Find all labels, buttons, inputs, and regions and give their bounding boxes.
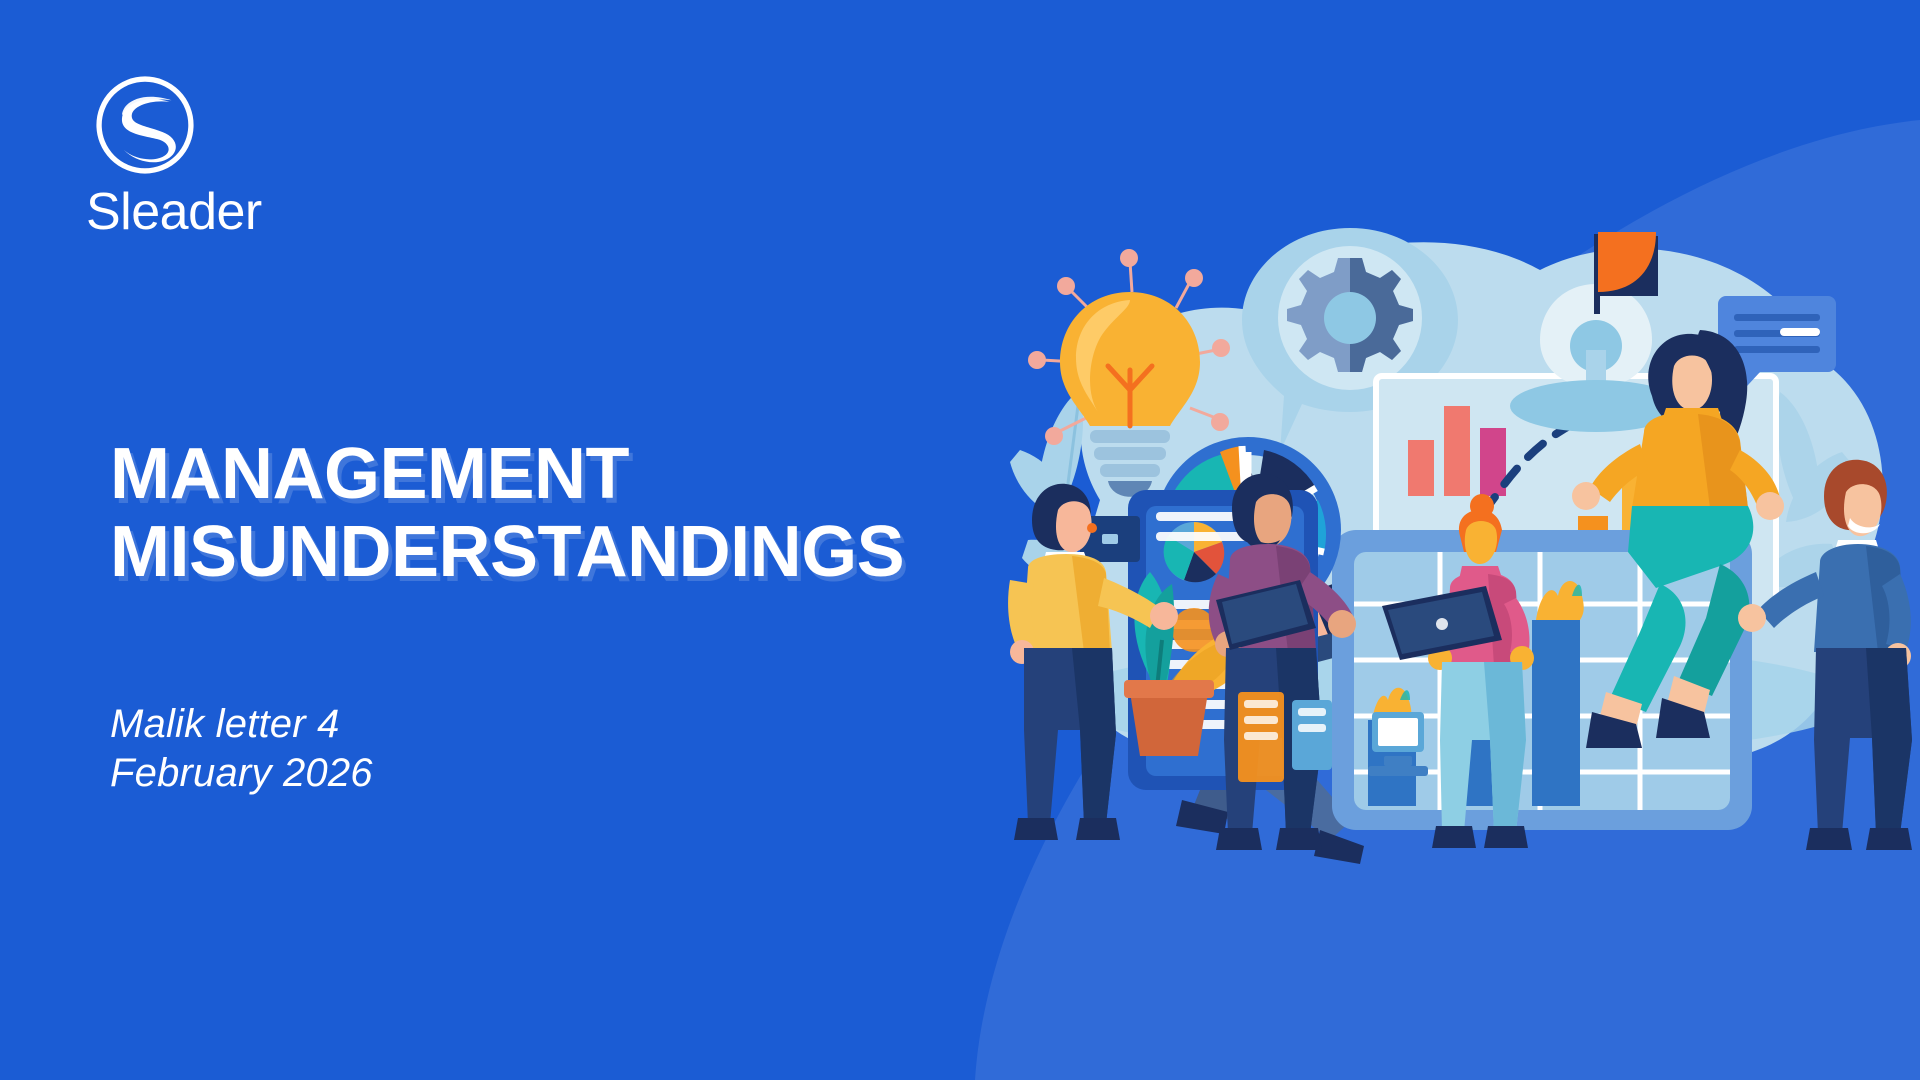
slide-title-line-1: MANAGEMENT — [110, 434, 629, 514]
slide-title-line-2: MISUNDERSTANDINGS — [110, 514, 904, 592]
sleader-globe-s-icon — [92, 72, 198, 178]
hero-illustration-svg — [980, 200, 1920, 900]
slide-title: MANAGEMENT MISUNDERSTANDINGS — [110, 436, 904, 592]
subtitle-line-2: February 2026 — [110, 749, 373, 798]
slide-subtitle: Malik letter 4 February 2026 — [110, 700, 373, 798]
presentation-slide: Sleader MANAGEMENT MISUNDERSTANDINGS Mal… — [0, 0, 1920, 1080]
brand-logo-wordmark: Sleader — [86, 186, 352, 238]
subtitle-line-1: Malik letter 4 — [110, 700, 373, 749]
hero-illustration — [980, 200, 1920, 900]
brand-logo[interactable]: Sleader — [92, 72, 352, 238]
